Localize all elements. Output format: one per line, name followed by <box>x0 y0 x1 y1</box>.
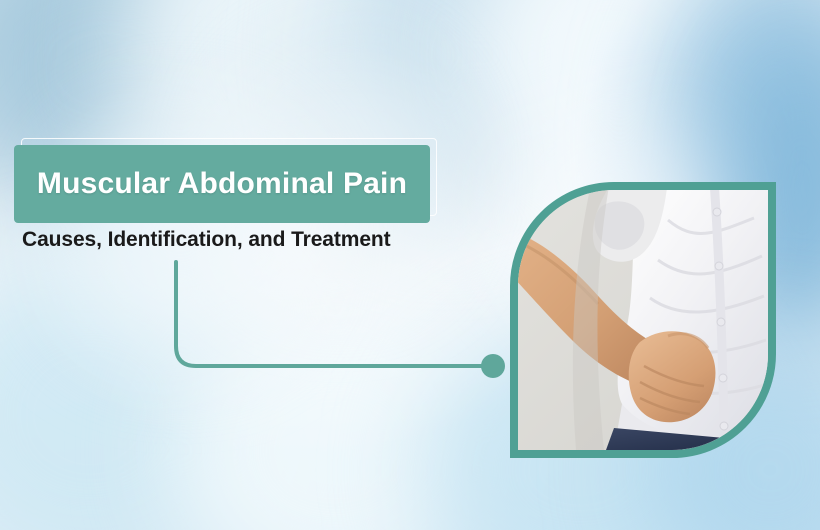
page-subtitle: Causes, Identification, and Treatment <box>22 228 391 252</box>
connector-path <box>176 262 493 366</box>
connector-endpoint-dot <box>481 354 505 378</box>
title-banner: Muscular Abdominal Pain <box>14 145 430 223</box>
infographic-canvas: Muscular Abdominal Pain Causes, Identifi… <box>0 0 820 530</box>
abdominal-pain-photo <box>518 190 768 450</box>
page-title: Muscular Abdominal Pain <box>37 167 407 201</box>
elbow-connector <box>160 250 520 390</box>
photo-card <box>510 182 776 458</box>
